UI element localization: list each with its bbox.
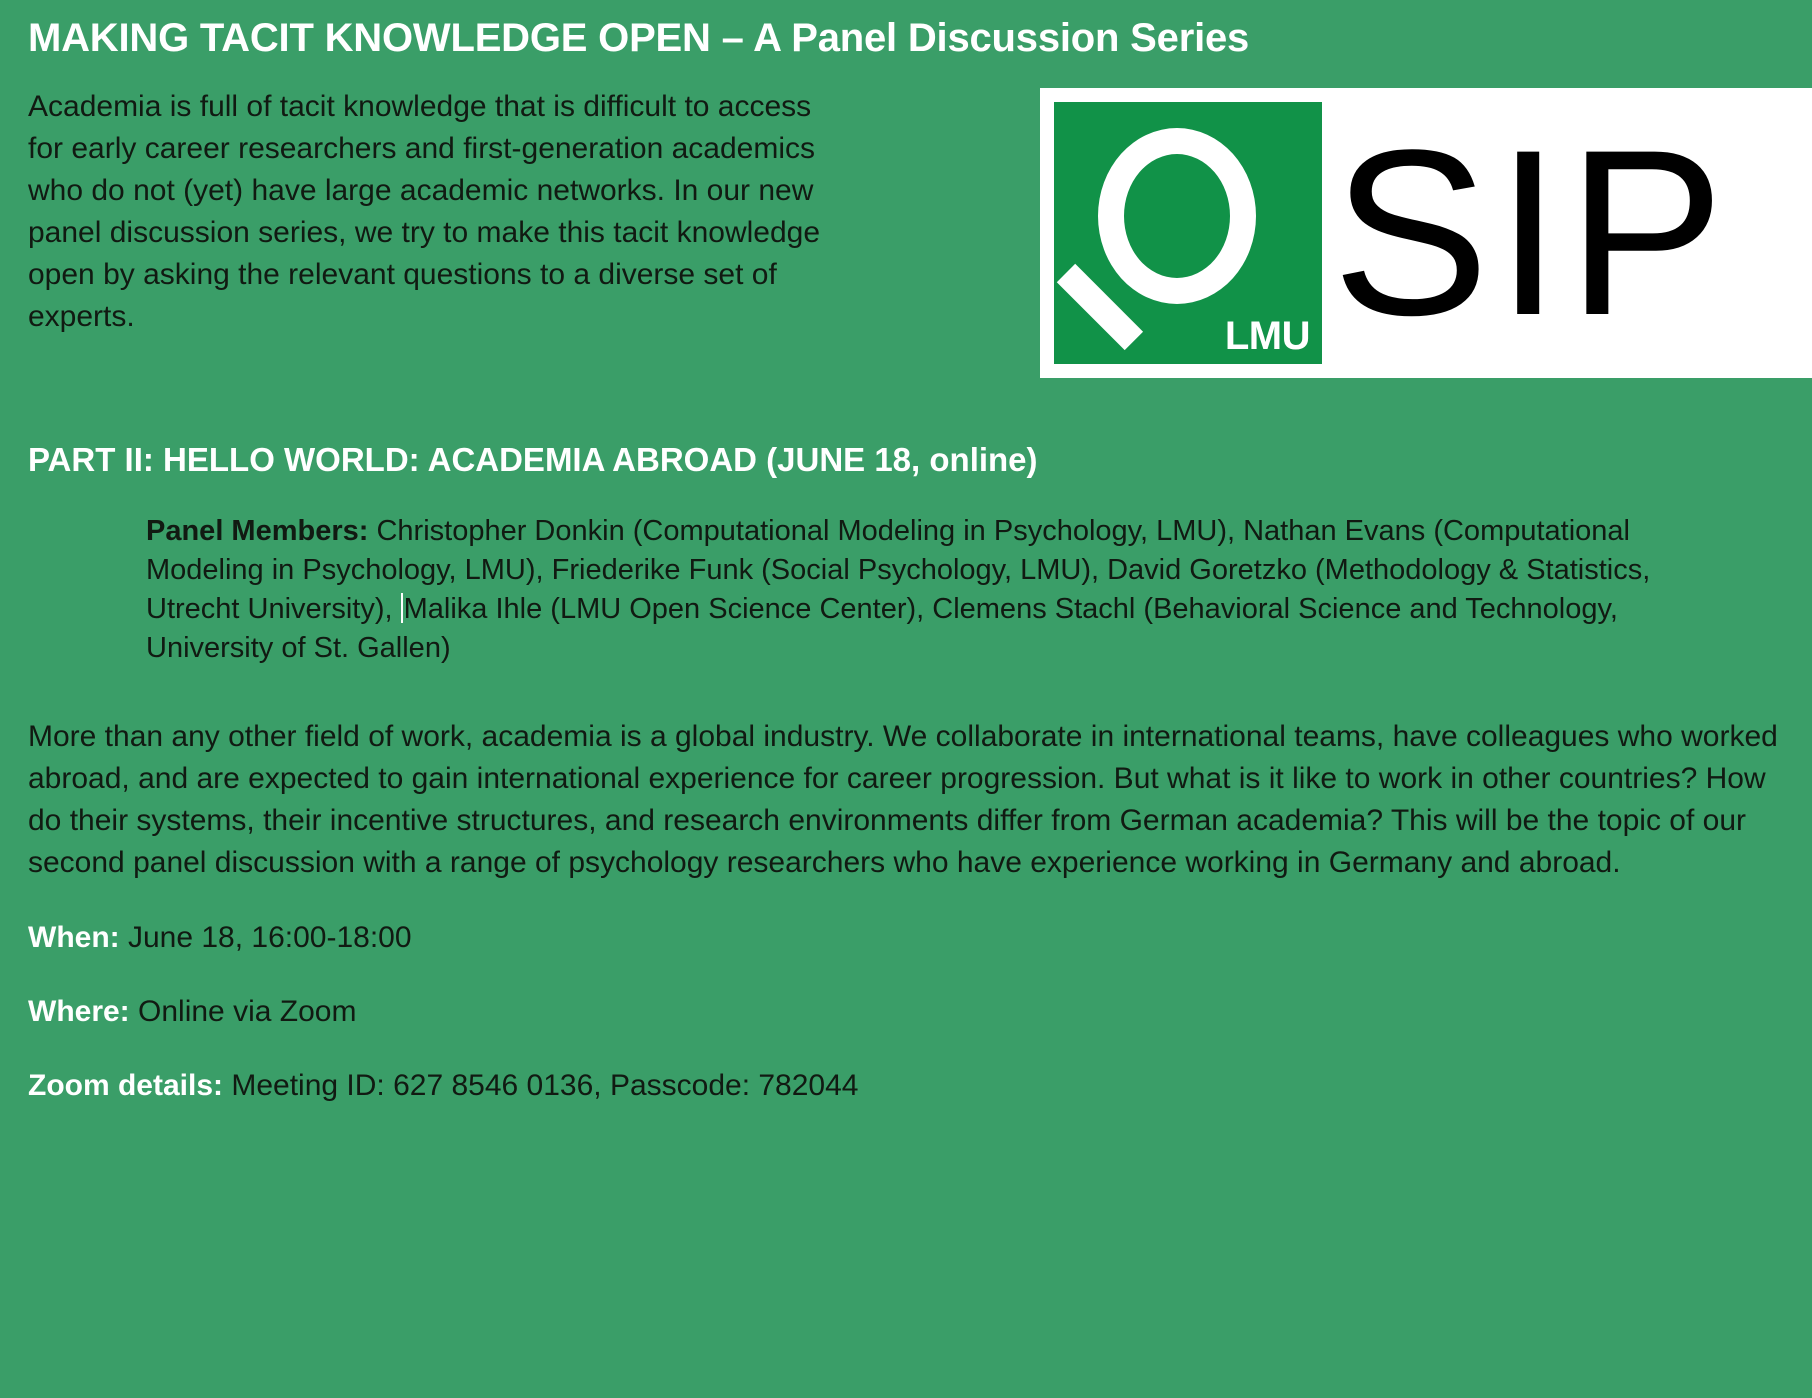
zoom-details-line: Zoom details: Meeting ID: 627 8546 0136,… — [28, 1066, 1784, 1106]
magnifier-lens-icon — [1098, 128, 1256, 304]
intro-row: Academia is full of tacit knowledge that… — [28, 86, 1784, 378]
osip-wordmark: SIP — [1332, 115, 1730, 351]
when-label: When: — [28, 921, 120, 954]
magnifying-glass-icon: LMU — [1054, 102, 1322, 364]
panel-members-paragraph: Panel Members: Christopher Donkin (Compu… — [146, 512, 1676, 668]
part-two-heading: PART II: HELLO WORLD: ACADEMIA ABROAD (J… — [28, 442, 1784, 478]
zoom-details-label: Zoom details: — [28, 1069, 223, 1102]
body-paragraph: More than any other field of work, acade… — [28, 716, 1784, 884]
panel-members-label: Panel Members: — [146, 515, 368, 547]
where-line: Where: Online via Zoom — [28, 992, 1784, 1032]
page-title: MAKING TACIT KNOWLEDGE OPEN – A Panel Di… — [28, 0, 1784, 58]
when-value: June 18, 16:00-18:00 — [120, 921, 412, 954]
text-caret — [401, 593, 403, 623]
when-line: When: June 18, 16:00-18:00 — [28, 918, 1784, 958]
lmu-logo-label: LMU — [1225, 316, 1310, 356]
lmu-logo-label-text: LMU — [1225, 314, 1310, 358]
where-value: Online via Zoom — [130, 995, 357, 1028]
intro-paragraph: Academia is full of tacit knowledge that… — [28, 86, 840, 338]
osip-lmu-logo: LMU SIP — [1040, 88, 1812, 378]
zoom-details-value: Meeting ID: 627 8546 0136, Passcode: 782… — [223, 1069, 858, 1102]
flyer-page: MAKING TACIT KNOWLEDGE OPEN – A Panel Di… — [0, 0, 1812, 1398]
where-label: Where: — [28, 995, 130, 1028]
